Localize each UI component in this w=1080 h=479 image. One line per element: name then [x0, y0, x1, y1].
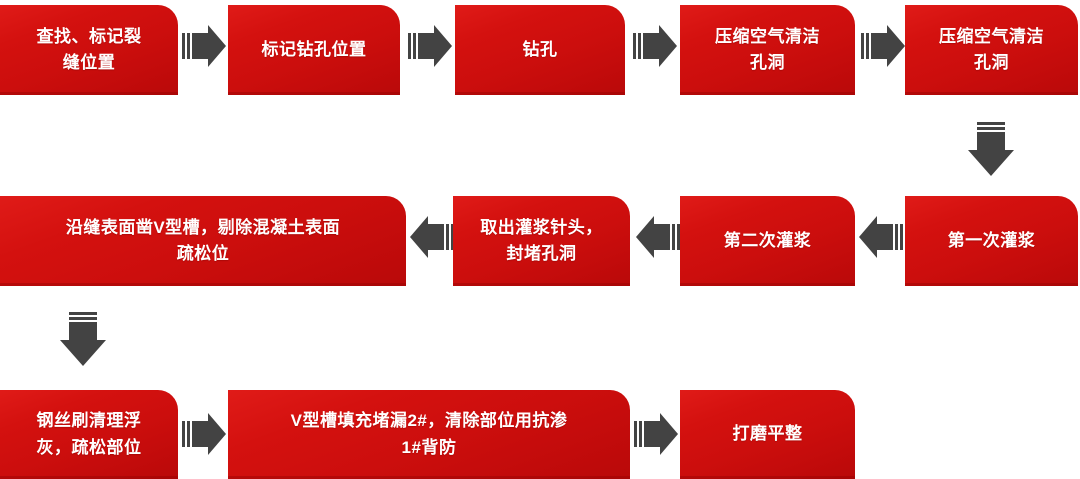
node-label: 打磨平整 — [690, 421, 845, 447]
arrow-left-connector — [410, 216, 454, 258]
node-label: 取出灌浆针头， 封堵孔洞 — [463, 215, 620, 268]
process-node-wire-brush-clean[interactable]: 钢丝刷清理浮 灰，疏松部位 — [0, 390, 178, 479]
node-label: 标记钻孔位置 — [238, 37, 390, 63]
arrow-left-connector — [636, 216, 680, 258]
process-node-drill-hole[interactable]: 钻孔 — [455, 5, 625, 95]
process-node-air-clean-hole-1[interactable]: 压缩空气清洁 孔洞 — [680, 5, 855, 95]
arrow-down-connector — [968, 122, 1014, 176]
process-node-second-grouting[interactable]: 第二次灌浆 — [680, 196, 855, 286]
process-node-fill-v-groove[interactable]: V型槽填充堵漏2#，清除部位用抗渗 1#背防 — [228, 390, 630, 479]
process-node-mark-drill-position[interactable]: 标记钻孔位置 — [228, 5, 400, 95]
arrow-down-connector — [60, 312, 106, 366]
arrow-left-connector — [859, 216, 903, 258]
process-node-grind-flat[interactable]: 打磨平整 — [680, 390, 855, 479]
node-label: 第一次灌浆 — [915, 228, 1068, 254]
node-label: 沿缝表面凿V型槽，剔除混凝土表面 疏松位 — [10, 215, 396, 268]
process-node-find-mark-crack[interactable]: 查找、标记裂 缝位置 — [0, 5, 178, 95]
node-label: 压缩空气清洁 孔洞 — [915, 24, 1068, 77]
process-node-first-grouting[interactable]: 第一次灌浆 — [905, 196, 1078, 286]
process-node-air-clean-hole-2[interactable]: 压缩空气清洁 孔洞 — [905, 5, 1078, 95]
arrow-right-connector — [182, 413, 226, 455]
node-label: 第二次灌浆 — [690, 228, 845, 254]
node-label: 钢丝刷清理浮 灰，疏松部位 — [10, 408, 168, 461]
process-node-remove-needle-seal-hole[interactable]: 取出灌浆针头， 封堵孔洞 — [453, 196, 630, 286]
arrow-right-connector — [861, 25, 905, 67]
node-label: V型槽填充堵漏2#，清除部位用抗渗 1#背防 — [238, 408, 620, 461]
node-label: 查找、标记裂 缝位置 — [10, 24, 168, 77]
arrow-right-connector — [408, 25, 452, 67]
arrow-right-connector — [182, 25, 226, 67]
node-label: 钻孔 — [465, 37, 615, 63]
node-label: 压缩空气清洁 孔洞 — [690, 24, 845, 77]
flowchart-canvas: 查找、标记裂 缝位置 标记钻孔位置 钻孔 压缩空气清洁 孔洞 — [0, 0, 1080, 479]
process-node-chisel-v-groove[interactable]: 沿缝表面凿V型槽，剔除混凝土表面 疏松位 — [0, 196, 406, 286]
arrow-right-connector — [634, 413, 678, 455]
arrow-right-connector — [633, 25, 677, 67]
